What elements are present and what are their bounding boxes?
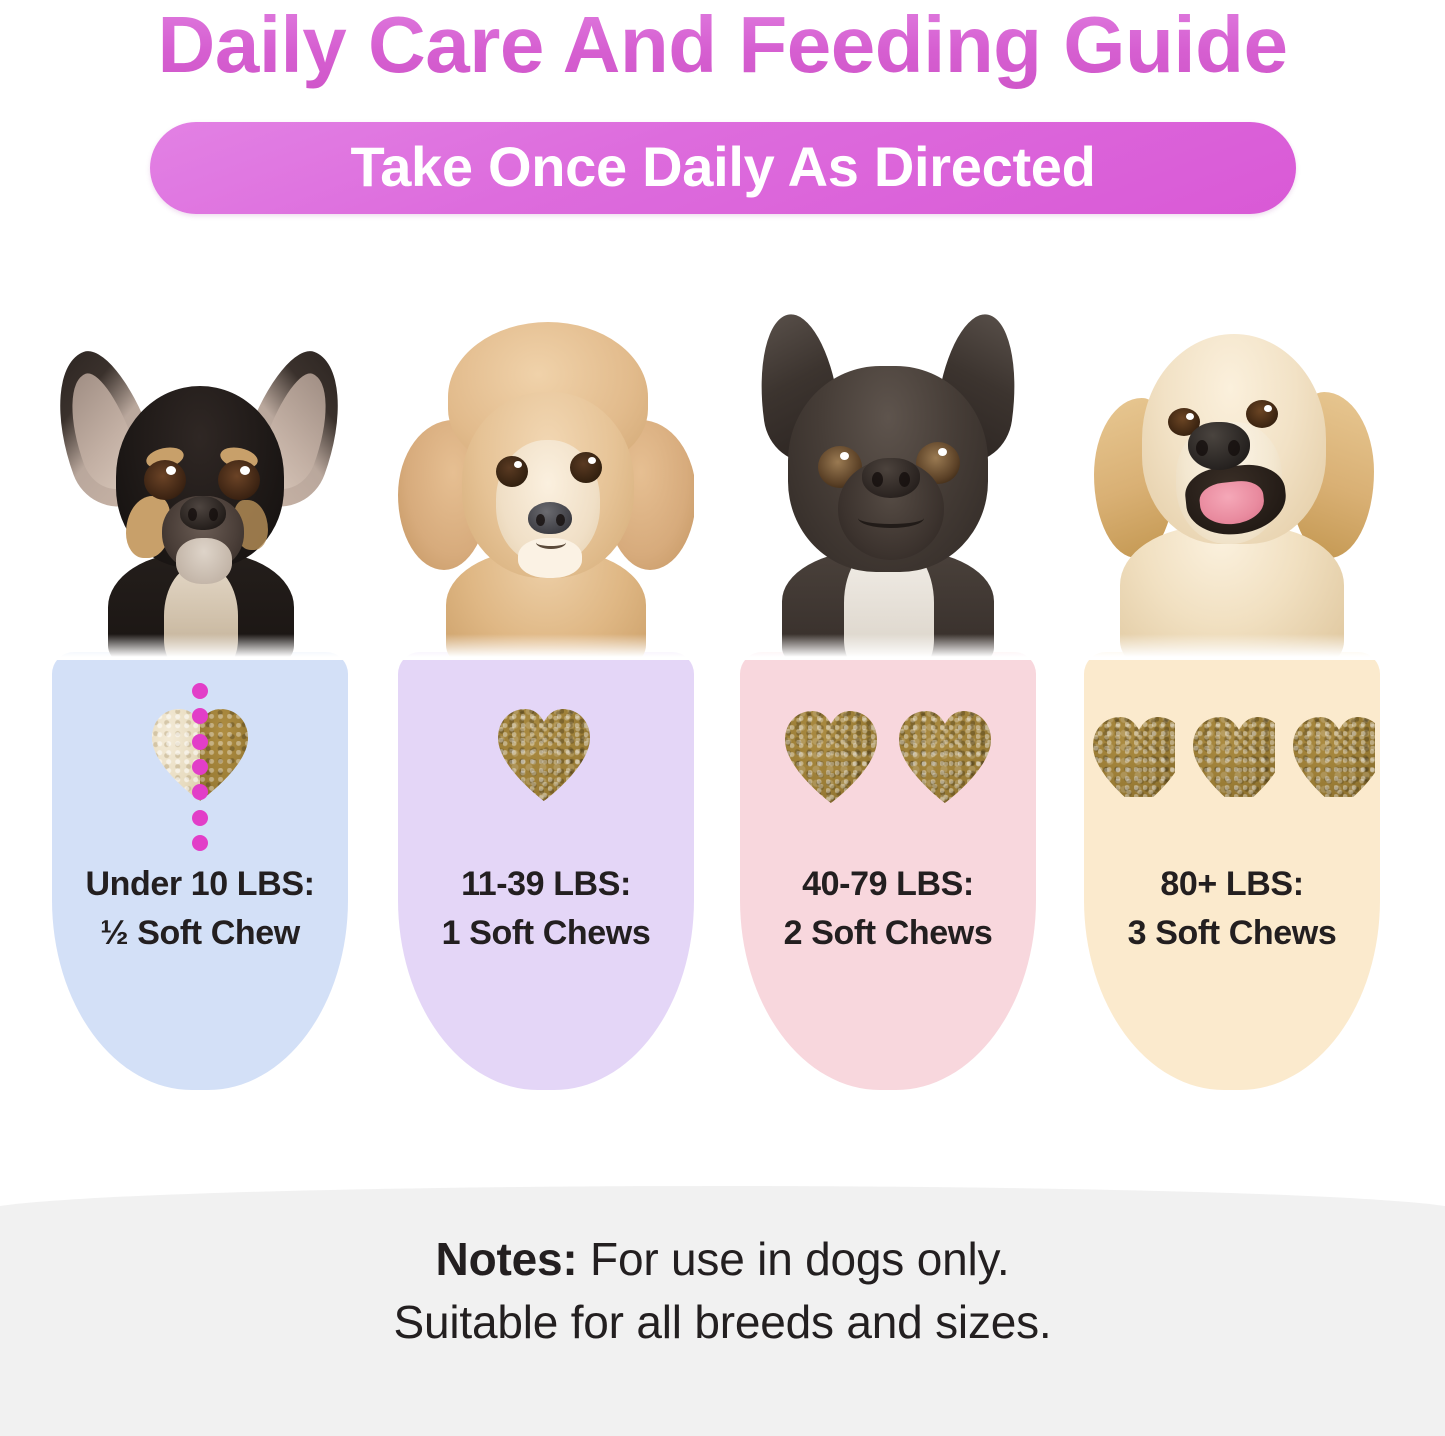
header: Daily Care And Feeding Guide Take Once D… xyxy=(0,0,1445,232)
treat-row xyxy=(52,690,348,820)
dog-nostril-right xyxy=(556,514,565,526)
weight-range-label: 80+ LBS: xyxy=(1160,865,1303,903)
card-label-11-39-lbs: 11-39 LBS: 1 Soft Chews xyxy=(390,860,702,958)
subtitle-text: Take Once Daily As Directed xyxy=(150,122,1296,214)
treat-row xyxy=(1084,690,1380,820)
dosage-card-under-10-lbs: Under 10 LBS: ½ Soft Chew xyxy=(52,300,348,1090)
heart-treat-icon xyxy=(895,707,995,803)
dog-nostril-left xyxy=(1196,440,1208,456)
dog-eye-glint-right xyxy=(588,457,596,464)
heart-treat-icon xyxy=(494,705,598,805)
dog-mouth xyxy=(536,536,566,549)
split-divider-dots xyxy=(191,683,209,851)
dog-photo-poodle xyxy=(398,300,694,660)
dog-nostril-left xyxy=(872,472,883,487)
weight-range-label: 11-39 LBS: xyxy=(461,865,631,903)
notes-prefix: Notes: xyxy=(436,1233,578,1285)
dog-chin xyxy=(176,538,232,584)
dog-eye-left xyxy=(144,460,186,500)
notes-line-1-text: For use in dogs only. xyxy=(577,1233,1009,1285)
dog-eye-glint-right xyxy=(240,466,250,475)
card-label-40-79-lbs: 40-79 LBS: 2 Soft Chews xyxy=(732,860,1044,958)
half-soft-chew-treat xyxy=(148,705,252,805)
dog-eye-right xyxy=(570,452,602,483)
notes-line-1: Notes: For use in dogs only. xyxy=(0,1228,1445,1291)
treat-row xyxy=(740,690,1036,820)
dosage-card-40-79-lbs: 40-79 LBS: 2 Soft Chews xyxy=(740,300,1036,1090)
dog-nose-icon xyxy=(528,502,572,534)
dog-eye-glint-right xyxy=(1264,405,1272,412)
dog-nostril-right xyxy=(1228,440,1240,456)
weight-range-label: 40-79 LBS: xyxy=(802,865,974,903)
dog-nostril-right xyxy=(899,472,910,487)
dog-photo-golden-retriever xyxy=(1084,300,1380,660)
dosage-cards: Under 10 LBS: ½ Soft Chew xyxy=(0,300,1445,1100)
dog-mouth xyxy=(858,508,924,528)
card-label-under-10-lbs: Under 10 LBS: ½ Soft Chew xyxy=(44,860,356,958)
dog-eye-right xyxy=(1246,400,1278,428)
dose-label: 3 Soft Chews xyxy=(1076,909,1388,958)
notes-text: Notes: For use in dogs only. Suitable fo… xyxy=(0,1228,1445,1354)
dog-nose-icon xyxy=(862,458,920,498)
dog-nostril-left xyxy=(536,514,545,526)
dog-nostril-left xyxy=(188,508,197,521)
dog-photo-chihuahua xyxy=(52,300,348,660)
heart-treat-icon xyxy=(1089,713,1175,797)
dose-label: ½ Soft Chew xyxy=(44,909,356,958)
dog-eye-glint-left xyxy=(840,452,849,460)
notes-line-2: Suitable for all breeds and sizes. xyxy=(0,1291,1445,1354)
dog-chest xyxy=(1120,526,1344,660)
dosage-card-80-plus-lbs: 80+ LBS: 3 Soft Chews xyxy=(1084,300,1380,1090)
dog-eye-glint-left xyxy=(166,466,176,475)
subtitle-pill: Take Once Daily As Directed xyxy=(150,122,1296,214)
weight-range-label: Under 10 LBS: xyxy=(85,865,314,903)
dog-nostril-right xyxy=(209,508,218,521)
dog-eye-glint-left xyxy=(514,461,522,468)
card-label-80-plus-lbs: 80+ LBS: 3 Soft Chews xyxy=(1076,860,1388,958)
dog-eye-glint-left xyxy=(1186,413,1194,420)
heart-treat-icon xyxy=(1189,713,1275,797)
heart-treat-icon xyxy=(781,707,881,803)
dog-eye-right xyxy=(218,460,260,500)
dose-label: 1 Soft Chews xyxy=(390,909,702,958)
dose-label: 2 Soft Chews xyxy=(732,909,1044,958)
page-title: Daily Care And Feeding Guide xyxy=(0,0,1445,94)
dog-nose-icon xyxy=(180,496,226,530)
dog-eye-left xyxy=(496,456,528,487)
dosage-card-11-39-lbs: 11-39 LBS: 1 Soft Chews xyxy=(398,300,694,1090)
dog-eye-glint-right xyxy=(938,448,947,456)
treat-row xyxy=(398,690,694,820)
dog-photo-french-bulldog xyxy=(740,300,1036,660)
heart-treat-icon xyxy=(1289,713,1375,797)
